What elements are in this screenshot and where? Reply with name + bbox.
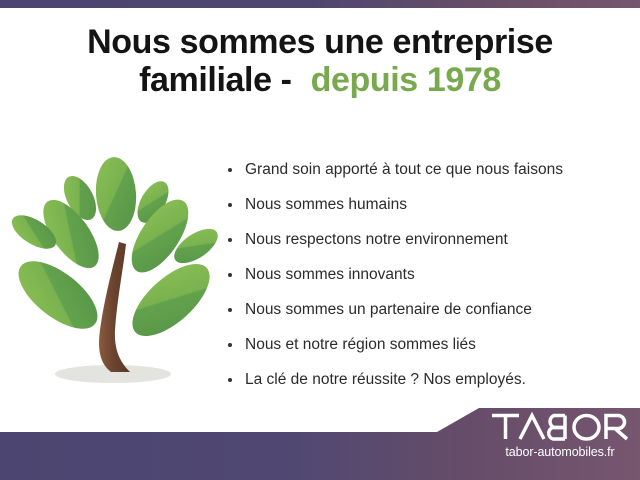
list-item: Nous sommes humains [228,187,628,222]
list-item: Grand soin apporté à tout ce que nous fa… [228,152,628,187]
tabor-wordmark-icon [490,412,630,442]
list-item: Nous sommes un partenaire de confiance [228,292,628,327]
bullet-dot-icon [228,238,232,242]
bullet-dot-icon [228,343,232,347]
brand-logo: tabor-automobiles.fr [490,412,635,472]
title-line-2-plain: familiale - [139,61,300,99]
list-item-label: La clé de notre réussite ? Nos employés. [245,372,526,388]
top-accent-band [0,0,640,8]
brand-website: tabor-automobiles.fr [490,445,630,459]
list-item: Nous et notre région sommes liés [228,327,628,362]
tree-leaf [93,156,138,233]
bullet-dot-icon [228,308,232,312]
list-item: La clé de notre réussite ? Nos employés. [228,362,628,397]
list-item-label: Grand soin apporté à tout ce que nous fa… [245,162,563,178]
bullet-list: Grand soin apporté à tout ce que nous fa… [228,152,628,397]
title-line-1: Nous sommes une entreprise [0,24,640,60]
slide-canvas: Nous sommes une entreprise familiale - d… [0,0,640,480]
bullet-dot-icon [228,378,232,382]
list-item-label: Nous et notre région sommes liés [245,337,476,353]
page-title: Nous sommes une entreprise familiale - d… [0,24,640,99]
bullet-dot-icon [228,168,232,172]
list-item: Nous respectons notre environnement [228,222,628,257]
bullet-dot-icon [228,203,232,207]
list-item-label: Nous respectons notre environnement [245,232,508,248]
tree-illustration [8,150,223,390]
tree-trunk [99,242,130,372]
list-item-label: Nous sommes un partenaire de confiance [245,302,532,318]
list-item-label: Nous sommes innovants [245,267,415,283]
title-year-accent: depuis 1978 [311,61,501,99]
list-item-label: Nous sommes humains [245,197,407,213]
bullet-dot-icon [228,273,232,277]
list-item: Nous sommes innovants [228,257,628,292]
title-line-2: familiale - depuis 1978 [0,62,640,98]
